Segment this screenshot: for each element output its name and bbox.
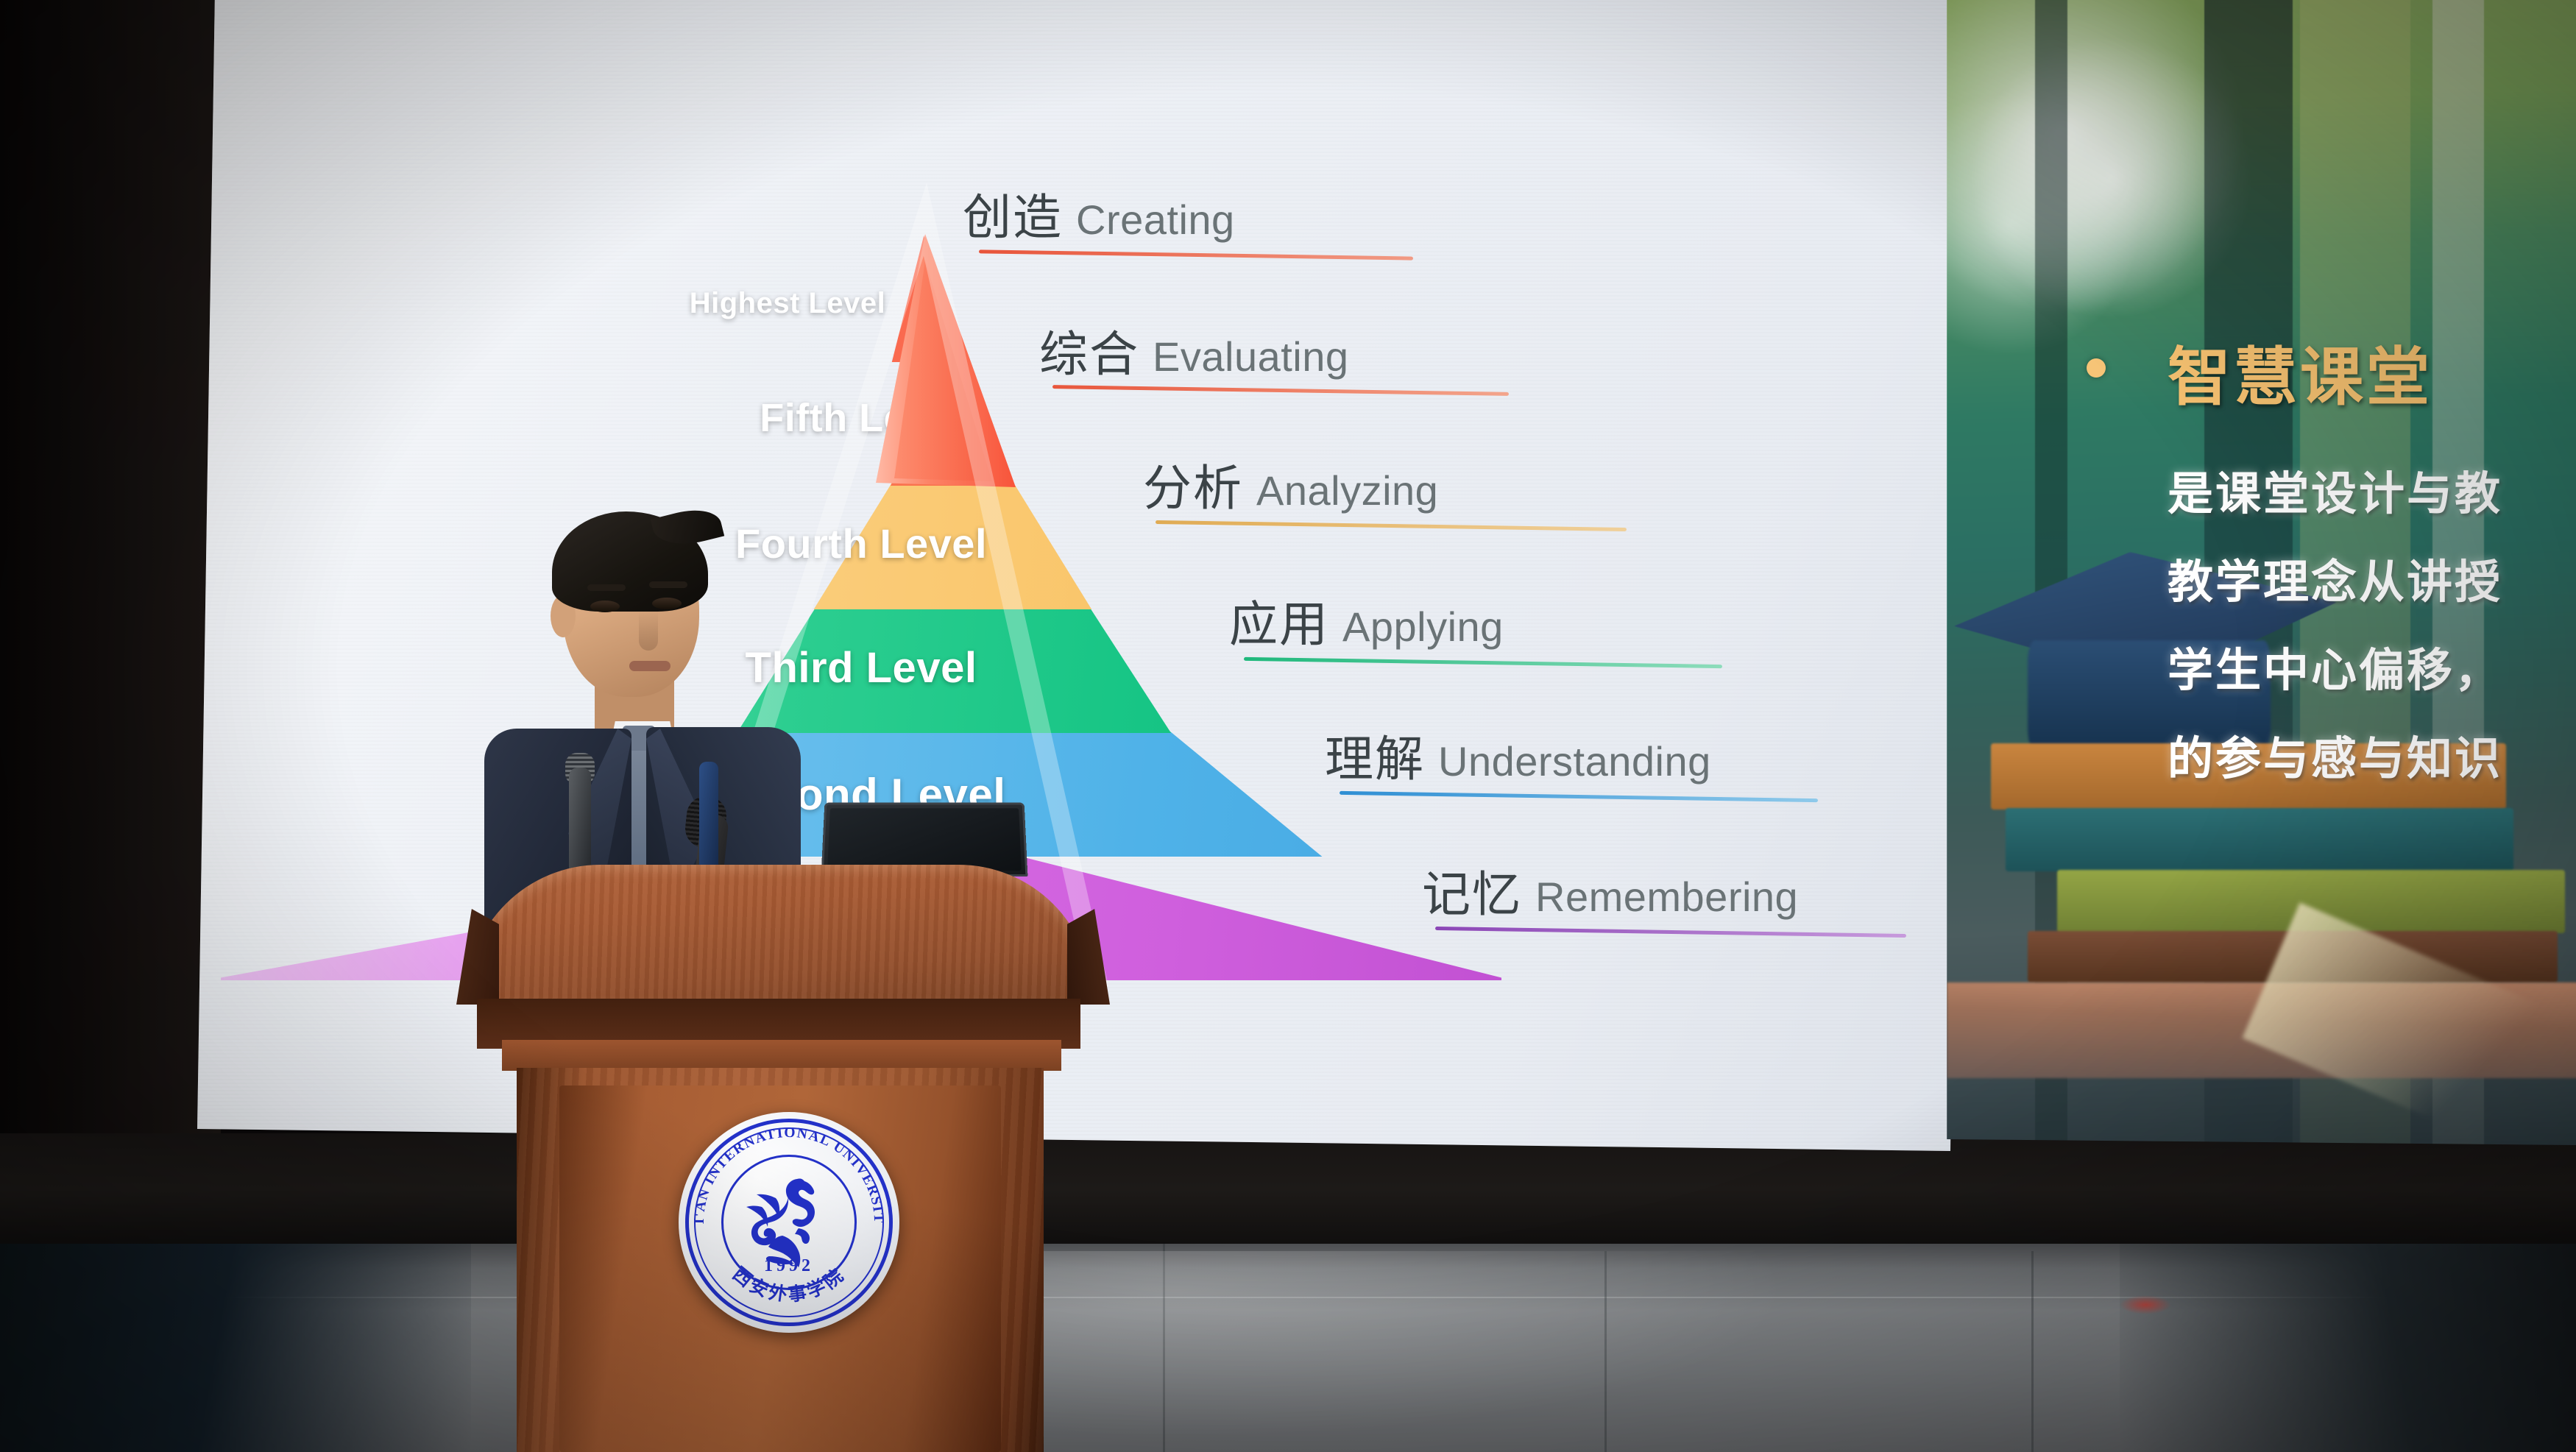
floor-joint-d	[2031, 1251, 2034, 1452]
university-emblem: XI'AN INTERNATIONAL UNIVERSITY 西安外事学院	[679, 1112, 899, 1333]
podium: XI'AN INTERNATIONAL UNIVERSITY 西安外事学院	[440, 865, 1117, 1452]
podium-shelf	[502, 1040, 1061, 1071]
speaker-mouth	[629, 661, 670, 671]
floor-red-reflection	[2120, 1295, 2171, 1314]
slide-row-applying: 应用Applying	[1229, 585, 1504, 656]
floor-shadow-right	[2120, 1244, 2576, 1452]
book-stack-item	[2006, 808, 2513, 871]
floor-shadow-left	[0, 1244, 471, 1452]
panel-body-line: 的参与感与知识	[2168, 721, 2502, 787]
row-cn-remembering: 记忆	[1422, 867, 1522, 921]
podium-top	[467, 865, 1092, 1003]
row-en-analyzing: Analyzing	[1256, 467, 1438, 514]
row-cn-creating: 创造	[963, 190, 1063, 244]
speaker-brow-left	[587, 584, 626, 591]
podium-microphone-secondary	[699, 762, 718, 872]
row-cn-analyzing: 分析	[1143, 461, 1243, 515]
slide-row-remembering: 记忆Remembering	[1422, 855, 1798, 926]
row-cn-evaluating: 综合	[1039, 327, 1139, 381]
podium-top-edge-left	[456, 909, 499, 1005]
podium-top-edge-right	[1067, 909, 1110, 1005]
laptop-screen	[827, 808, 1022, 871]
speaker-brow-right	[649, 581, 687, 588]
row-en-understanding: Understanding	[1438, 738, 1711, 785]
slide-row-analyzing: 分析Analyzing	[1143, 449, 1438, 520]
stage-back-wall	[0, 1133, 2576, 1258]
row-en-evaluating: Evaluating	[1153, 333, 1349, 380]
row-cn-applying: 应用	[1229, 597, 1329, 651]
speaker-eye-left	[590, 601, 620, 612]
slide-row-evaluating: 综合Evaluating	[1039, 315, 1349, 386]
stage-scene: Second Level Third Level Fourth Level Fi…	[0, 0, 2576, 1452]
slide-row-understanding: 理解Understanding	[1325, 720, 1711, 790]
panel-body-line: 教学理念从讲授	[2168, 545, 2502, 611]
panel-body-line: 是课堂设计与教	[2168, 456, 2502, 523]
bullet-dot-icon	[2087, 358, 2106, 378]
podium-wood-grain	[467, 865, 1092, 1003]
emblem-year: 1992	[679, 1256, 899, 1276]
speaker-nose	[639, 611, 658, 651]
row-en-remembering: Remembering	[1535, 874, 1798, 920]
slide-row-creating: 创造Creating	[963, 178, 1235, 249]
panel-body-line: 学生中心偏移，	[2168, 633, 2502, 699]
speaker-eye-right	[652, 598, 682, 609]
panel-title: 智慧课堂	[2168, 325, 2432, 417]
row-en-creating: Creating	[1076, 196, 1235, 243]
podium-microphone-stem	[569, 768, 591, 878]
row-en-applying: Applying	[1342, 603, 1504, 650]
row-cn-understanding: 理解	[1325, 732, 1425, 786]
stage-curtain-left	[0, 0, 221, 1192]
